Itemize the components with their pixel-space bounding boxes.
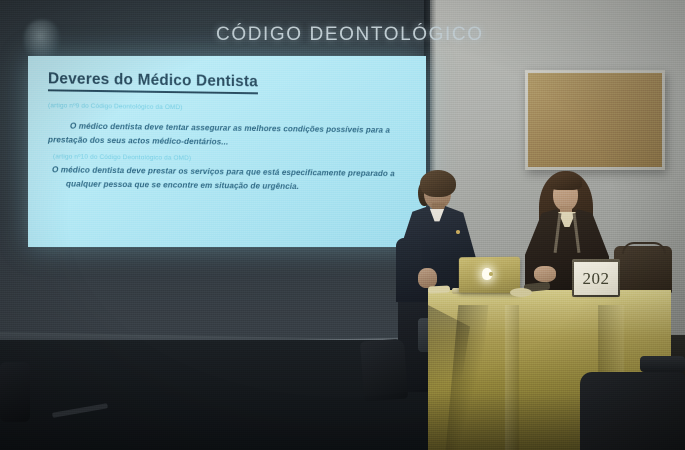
slide-reference-2: (artigo nº10 do Código Deontológico da O…	[53, 153, 191, 162]
desk-item	[510, 288, 532, 297]
slide-reference-1: (artigo nº9 do Código Deontológico da OM…	[48, 102, 183, 111]
apple-logo-bite	[489, 272, 493, 276]
desk-item	[428, 285, 450, 293]
presentation-photo: CÓDIGO DEONTOLÓGICO Deveres do Médico De…	[0, 0, 685, 450]
slide-paragraph-2-line-1: O médico dentista deve prestar os serviç…	[52, 164, 395, 180]
projection-header-title: CÓDIGO DEONTOLÓGICO	[216, 24, 431, 46]
presenter-left-hair	[420, 170, 456, 197]
presenter-left-hand	[418, 268, 437, 288]
chair-foreground	[580, 372, 685, 450]
chair-armrest	[640, 356, 685, 372]
projected-slide: Deveres do Médico Dentista (artigo nº9 d…	[28, 56, 426, 247]
blurred-logo-watermark-icon	[24, 20, 60, 60]
lapel-pin-icon	[456, 230, 460, 234]
bag-on-floor	[360, 339, 408, 402]
presenter-right-hair-front	[549, 173, 582, 190]
presenter-right-hand	[534, 266, 556, 282]
bag-strap	[622, 242, 666, 254]
presenter-left-arm	[396, 238, 422, 300]
corkboard-icon	[525, 70, 665, 170]
table-number-card: 202	[574, 262, 618, 295]
slide-paragraph-1-line-2: prestação dos seus actos médico-dentário…	[48, 134, 228, 148]
slide-title: Deveres do Médico Dentista	[48, 70, 258, 94]
dark-object-left	[0, 362, 30, 422]
table-number-text: 202	[583, 269, 610, 289]
corkboard-surface	[528, 73, 662, 167]
slide-paragraph-2-line-2: qualquer pessoa que se encontre em situa…	[66, 178, 299, 192]
